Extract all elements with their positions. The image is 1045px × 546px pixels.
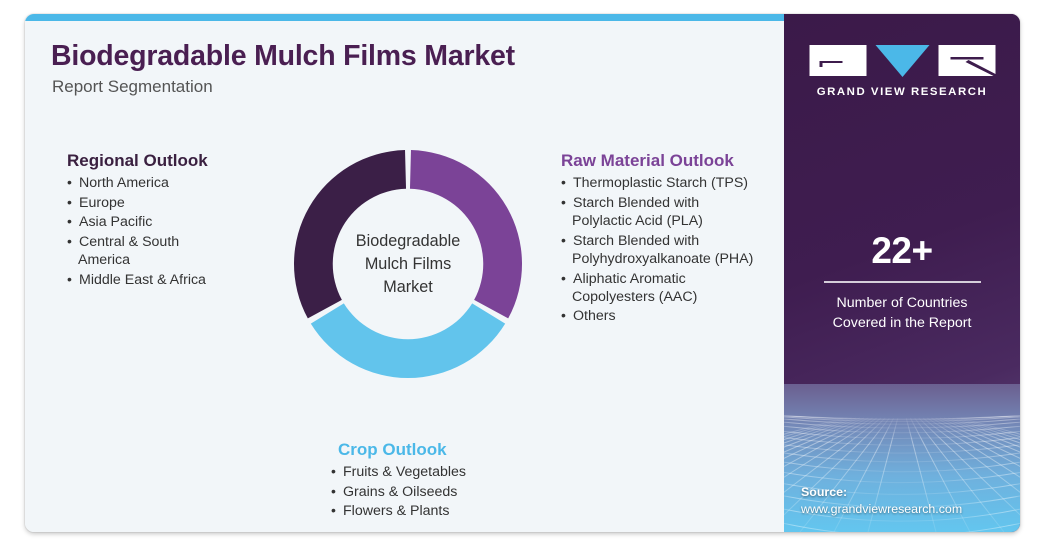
list-item-label: Grains & Oilseeds xyxy=(343,484,457,500)
list-item-label: Thermoplastic Starch (TPS) xyxy=(573,175,748,191)
donut-slice xyxy=(294,150,406,318)
list-item-label: Aliphatic Aromatic xyxy=(573,271,686,287)
stat-caption-line-1: Number of Countries xyxy=(784,293,1020,313)
list-item: North America xyxy=(67,174,282,192)
regional-outlook-list: North America Europe Asia Pacific Centra… xyxy=(67,174,282,289)
page-subtitle: Report Segmentation xyxy=(52,77,213,97)
donut-slice xyxy=(410,150,522,318)
donut-slice xyxy=(311,303,505,378)
donut-chart-svg xyxy=(292,148,524,380)
list-item: Grains & Oilseeds xyxy=(331,483,546,501)
left-content-panel: Biodegradable Mulch Films Market Report … xyxy=(25,14,784,532)
source-block: Source: www.grandviewresearch.com xyxy=(801,484,962,518)
list-item-label: Starch Blended with xyxy=(573,195,699,211)
list-item: Flowers & Plants xyxy=(331,502,546,520)
gvr-logo: GRAND VIEW RESEARCH xyxy=(806,43,999,98)
crop-outlook-block: Crop Outlook Fruits & Vegetables Grains … xyxy=(331,439,546,522)
list-item-label-continuation: Copolyesters (AAC) xyxy=(572,288,786,306)
list-item-label: Europe xyxy=(79,195,125,211)
list-item: Aliphatic AromaticCopolyesters (AAC) xyxy=(561,270,786,307)
crop-outlook-list: Fruits & Vegetables Grains & Oilseeds Fl… xyxy=(331,463,546,520)
list-item-label-continuation: Polyhydroxyalkanoate (PHA) xyxy=(572,250,786,268)
list-item-label: Others xyxy=(573,308,616,324)
raw-material-outlook-heading: Raw Material Outlook xyxy=(561,150,786,171)
list-item: Central & SouthAmerica xyxy=(67,233,282,270)
donut-chart: Biodegradable Mulch Films Market xyxy=(292,148,524,380)
gvr-logo-mark xyxy=(806,43,999,78)
source-url[interactable]: www.grandviewresearch.com xyxy=(801,501,962,518)
top-accent-bar xyxy=(25,14,784,21)
gvr-logo-wordmark: GRAND VIEW RESEARCH xyxy=(806,86,999,98)
list-item-label: Middle East & Africa xyxy=(79,272,206,288)
stat-caption: Number of Countries Covered in the Repor… xyxy=(784,293,1020,333)
raw-material-outlook-block: Raw Material Outlook Thermoplastic Starc… xyxy=(561,150,786,327)
list-item-label: Asia Pacific xyxy=(79,214,152,230)
g-block-icon xyxy=(809,43,866,78)
list-item-label: Flowers & Plants xyxy=(343,503,449,519)
stat-block: 22+ Number of Countries Covered in the R… xyxy=(784,232,1020,333)
list-item-label: Starch Blended with xyxy=(573,233,699,249)
list-item-label-continuation: America xyxy=(78,251,282,269)
page-title: Biodegradable Mulch Films Market xyxy=(51,40,515,73)
list-item: Middle East & Africa xyxy=(67,271,282,289)
list-item: Thermoplastic Starch (TPS) xyxy=(561,174,786,192)
list-item: Starch Blended withPolyhydroxyalkanoate … xyxy=(561,232,786,269)
stat-divider xyxy=(824,281,981,283)
list-item: Fruits & Vegetables xyxy=(331,463,546,481)
list-item-label-continuation: Polylactic Acid (PLA) xyxy=(572,212,786,230)
brand-sidebar-panel: GRAND VIEW RESEARCH 22+ Number of Countr… xyxy=(784,14,1020,532)
list-item: Others xyxy=(561,307,786,325)
infographic-card: Biodegradable Mulch Films Market Report … xyxy=(25,14,1020,532)
raw-material-outlook-list: Thermoplastic Starch (TPS) Starch Blende… xyxy=(561,174,786,326)
regional-outlook-block: Regional Outlook North America Europe As… xyxy=(67,150,282,290)
crop-outlook-heading: Crop Outlook xyxy=(338,439,546,460)
stat-caption-line-2: Covered in the Report xyxy=(784,313,1020,333)
list-item: Starch Blended withPolylactic Acid (PLA) xyxy=(561,194,786,231)
regional-outlook-heading: Regional Outlook xyxy=(67,150,282,171)
donut-slices xyxy=(294,150,522,378)
r-block-icon xyxy=(938,43,995,78)
list-item-label: Fruits & Vegetables xyxy=(343,464,466,480)
list-item: Europe xyxy=(67,194,282,212)
list-item: Asia Pacific xyxy=(67,213,282,231)
source-label: Source: xyxy=(801,484,962,501)
v-triangle-icon xyxy=(873,43,931,78)
list-item-label: North America xyxy=(79,175,169,191)
stat-value: 22+ xyxy=(784,232,1020,269)
list-item-label: Central & South xyxy=(79,234,179,250)
